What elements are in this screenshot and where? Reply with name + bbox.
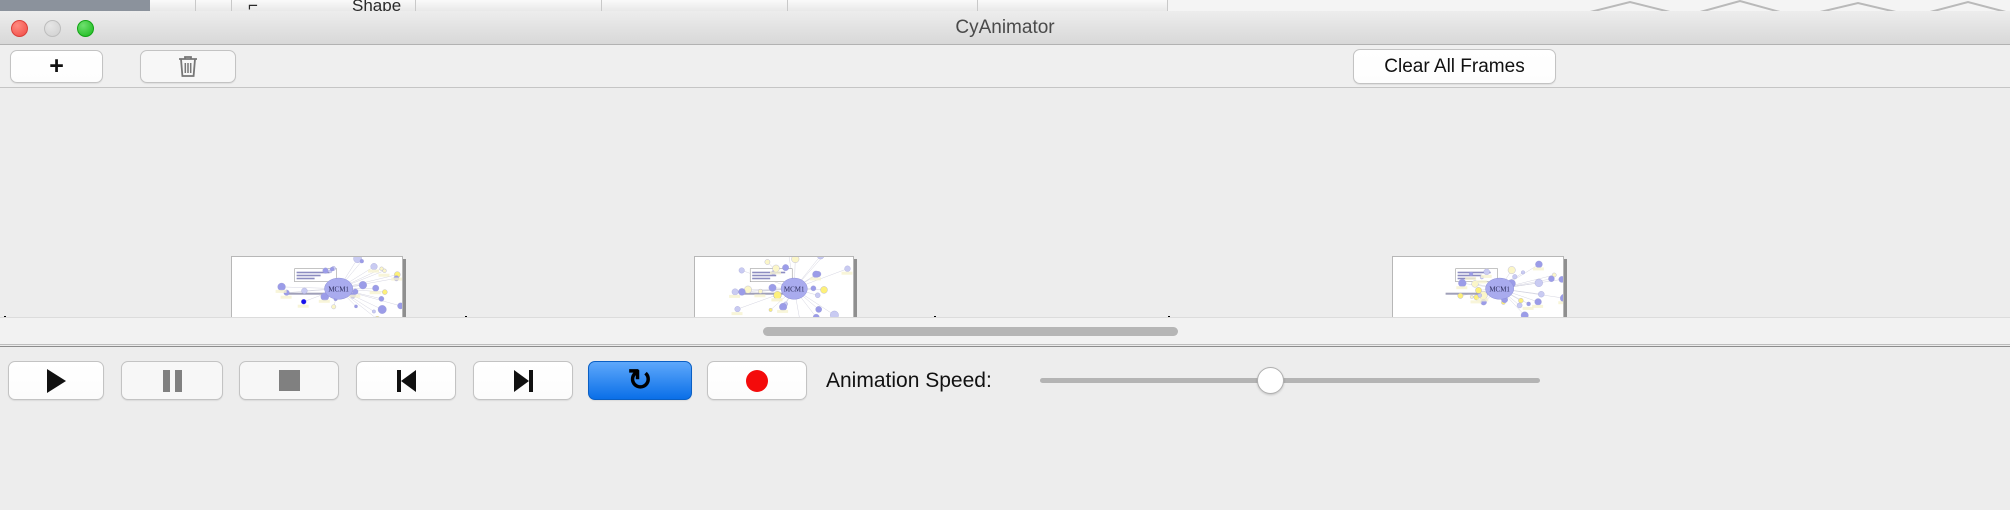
trash-icon bbox=[177, 54, 199, 79]
timeline-scrollbar-track[interactable] bbox=[0, 317, 2010, 345]
animation-speed-label: Animation Speed: bbox=[826, 369, 992, 393]
skip-to-end-button[interactable] bbox=[473, 361, 573, 400]
svg-text:MCM1: MCM1 bbox=[328, 286, 349, 294]
record-button[interactable] bbox=[707, 361, 807, 400]
play-button[interactable] bbox=[8, 361, 104, 400]
skip-back-icon bbox=[397, 370, 416, 392]
stop-icon bbox=[279, 370, 300, 391]
stop-button bbox=[239, 361, 339, 400]
toolbar: + Clear All Frames bbox=[0, 45, 2010, 88]
delete-frame-button[interactable] bbox=[140, 50, 236, 83]
play-icon bbox=[47, 369, 66, 393]
frame-thumbnail-2[interactable]: MCM1 bbox=[694, 256, 854, 322]
add-frame-button[interactable]: + bbox=[10, 50, 103, 83]
frame-thumbnail-1[interactable]: MCM1 bbox=[231, 256, 403, 322]
playback-control-bar: ↻ Animation Speed: bbox=[0, 346, 2010, 510]
timeline-scrollbar-thumb[interactable] bbox=[763, 327, 1178, 336]
skip-forward-icon bbox=[514, 370, 533, 392]
record-icon bbox=[746, 370, 768, 392]
clear-all-frames-button[interactable]: Clear All Frames bbox=[1353, 49, 1556, 84]
frame-thumbnail-3[interactable]: MCM1 bbox=[1392, 256, 1564, 322]
loop-icon: ↻ bbox=[627, 366, 652, 396]
loop-button[interactable]: ↻ bbox=[588, 361, 692, 400]
plus-icon: + bbox=[49, 54, 64, 79]
skip-to-start-button[interactable] bbox=[356, 361, 456, 400]
window-title: CyAnimator bbox=[0, 11, 2010, 45]
window-titlebar: CyAnimator bbox=[0, 11, 2010, 45]
animation-speed-slider[interactable] bbox=[1040, 378, 1540, 383]
animation-speed-slider-thumb[interactable] bbox=[1257, 367, 1284, 394]
pause-button bbox=[121, 361, 223, 400]
svg-text:MCM1: MCM1 bbox=[784, 286, 805, 294]
timeline-panel[interactable]: 2131415161718 MCM1 MCM1 bbox=[0, 88, 2010, 317]
svg-text:MCM1: MCM1 bbox=[1489, 286, 1510, 294]
pause-icon bbox=[163, 370, 182, 392]
